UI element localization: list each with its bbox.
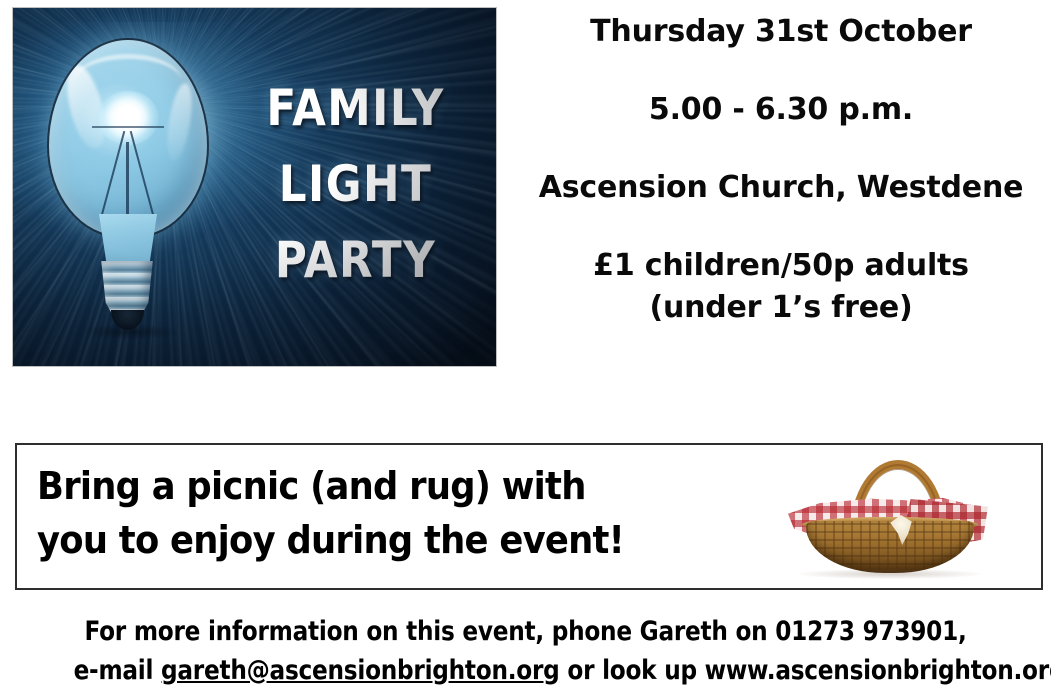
basket-ground-shadow: [798, 569, 982, 579]
bulb-drop-shadow: [79, 324, 179, 340]
flyer-page: Family Light Party Thursday 31st October…: [0, 0, 1051, 700]
event-price: £1 children/50p adults: [520, 248, 1042, 284]
light-bulb-poster-image: Family Light Party: [13, 8, 496, 366]
footer-contact-info: For more information on this event, phon…: [0, 612, 1051, 690]
bulb-filament-glow: [97, 91, 159, 145]
footer-website-link[interactable]: www.ascensionbrighton.org: [705, 655, 1051, 686]
event-price-note: (under 1’s free): [520, 290, 1042, 326]
picnic-notice-text: Bring a picnic (and rug) with you to enj…: [37, 459, 688, 567]
picnic-basket-icon: [782, 457, 997, 579]
bulb-filament-crossbar: [92, 126, 165, 128]
footer-email-prefix: e-mail: [74, 655, 161, 686]
basket-wicker-body: [806, 521, 974, 573]
bulb-filament-wire-right: [130, 131, 155, 219]
light-bulb-icon: [35, 38, 225, 343]
event-details: Thursday 31st October 5.00 - 6.30 p.m. A…: [520, 14, 1042, 326]
bulb-neck: [95, 214, 161, 266]
picnic-notice-line-2: you to enjoy during the event!: [37, 513, 688, 567]
top-section: Family Light Party Thursday 31st October…: [0, 0, 1051, 400]
headline-line-3: Party: [227, 222, 484, 298]
poster-headline: Family Light Party: [223, 70, 488, 298]
event-time: 5.00 - 6.30 p.m.: [520, 92, 1042, 128]
bulb-glass: [47, 38, 209, 238]
footer-line-2: e-mail gareth@ascensionbrighton.org or l…: [74, 651, 978, 690]
footer-email-link[interactable]: gareth@ascensionbrighton.org: [161, 655, 560, 686]
headline-line-2: Light: [227, 146, 484, 222]
event-date: Thursday 31st October: [520, 14, 1042, 50]
event-venue: Ascension Church, Westdene: [520, 170, 1042, 206]
bulb-filament-wire-left: [100, 131, 125, 219]
picnic-notice-line-1: Bring a picnic (and rug) with: [37, 459, 688, 513]
footer-line2-middle: or look up: [560, 655, 705, 686]
footer-line-1: For more information on this event, phon…: [74, 612, 978, 651]
headline-line-1: Family: [227, 70, 484, 146]
picnic-notice-box: Bring a picnic (and rug) with you to enj…: [15, 443, 1043, 590]
